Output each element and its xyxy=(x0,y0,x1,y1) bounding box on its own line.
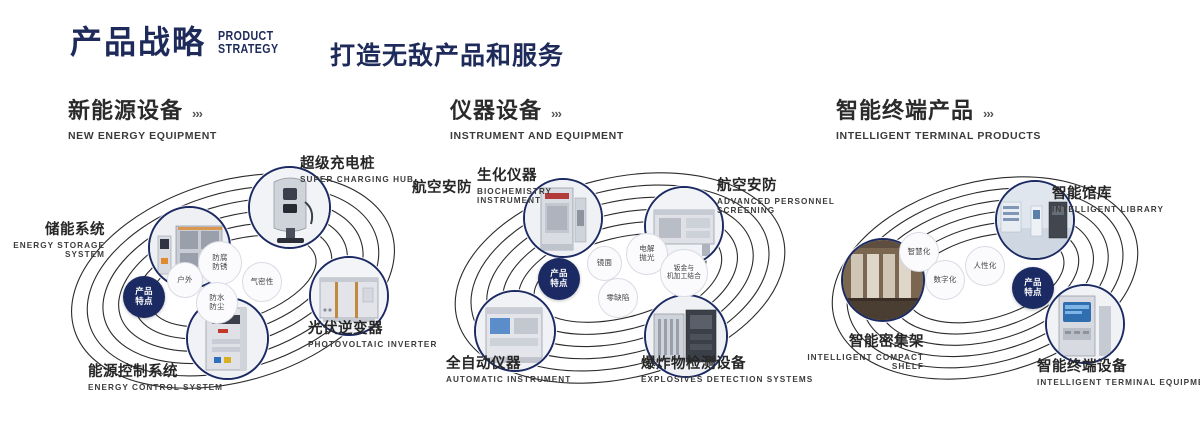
feature-label: 零缺陷 xyxy=(606,294,629,303)
feature-label: 人性化 xyxy=(973,262,996,271)
label-automatic-instrument: 全自动仪器 AUTOMATIC INSTRUMENT xyxy=(446,352,571,384)
label-en: ENERGY CONTROL SYSTEM xyxy=(88,383,223,392)
page-title-en-line2: STRATEGY xyxy=(218,42,279,55)
label-cn: 超级充电桩 xyxy=(300,152,414,173)
section-title-en: INTELLIGENT TERMINAL PRODUCTS xyxy=(836,130,1041,142)
label-intelligent-compact-shelf: 智能密集架 INTELLIGENT COMPACT SHELF xyxy=(806,330,924,371)
label-en: SUPER CHARGING HUB xyxy=(300,175,414,184)
label-energy-control-system: 能源控制系统 ENERGY CONTROL SYSTEM xyxy=(88,360,223,392)
label-en: ENERGY STORAGE SYSTEM xyxy=(0,241,105,259)
feature-bubble-anticorrosion: 防腐防锈 xyxy=(198,241,242,285)
product-circle-intelligent-terminal-equipment[interactable] xyxy=(1045,284,1125,364)
label-biochemistry-instrument: 生化仪器 BIOCHEMISTRY INSTRUMENT xyxy=(477,164,552,205)
label-cn: 航空安防 xyxy=(412,176,472,197)
section-title-en: INSTRUMENT AND EQUIPMENT xyxy=(450,130,624,142)
feature-bubble-sheetmetal-machining: 钣金与机加工结合 xyxy=(660,249,708,297)
feature-bubble-digitalization: 数字化 xyxy=(925,260,965,300)
feature-bubble-core-product-features: 产品特点 xyxy=(123,276,165,318)
feature-label: 防水防尘 xyxy=(209,294,224,312)
page-title: 产品战略 PRODUCT STRATEGY xyxy=(70,26,292,58)
feature-label: 智慧化 xyxy=(907,248,930,257)
section-title-instrument: 仪器设备 ››› INSTRUMENT AND EQUIPMENT xyxy=(450,93,624,142)
product-strategy-infographic: 产品战略 PRODUCT STRATEGY 打造无敌产品和服务 新能源设备 ››… xyxy=(0,0,1200,422)
feature-bubble-core-product-features: 产品特点 xyxy=(538,258,580,300)
label-en: EXPLOSIVES DETECTION SYSTEMS xyxy=(641,375,813,384)
label-cn: 爆炸物检测设备 xyxy=(641,352,813,373)
label-en: PHOTOVOLTAIC INVERTER xyxy=(308,340,437,349)
feature-label: 数字化 xyxy=(933,276,956,285)
label-cn: 智能馆库 xyxy=(1052,182,1164,203)
page-title-cn: 产品战略 xyxy=(70,26,206,58)
feature-label: 电解抛光 xyxy=(639,245,654,263)
feature-label: 气密性 xyxy=(250,278,273,287)
label-explosives-detection: 爆炸物检测设备 EXPLOSIVES DETECTION SYSTEMS xyxy=(641,352,813,384)
label-energy-storage-system: 储能系统 ENERGY STORAGE SYSTEM xyxy=(0,218,105,259)
chevron-right-icon: ››› xyxy=(192,106,202,121)
label-aviation-security-left: 航空安防 xyxy=(412,176,472,197)
section-title-intelligent-terminal: 智能终端产品 ››› INTELLIGENT TERMINAL PRODUCTS xyxy=(836,93,1041,142)
feature-label: 钣金与机加工结合 xyxy=(667,265,701,281)
feature-label: 镜面 xyxy=(597,259,612,268)
label-cn: 能源控制系统 xyxy=(88,360,223,381)
feature-bubble-mirror-finish: 镜面 xyxy=(587,246,622,281)
label-cn: 储能系统 xyxy=(0,218,105,239)
label-intelligent-library: 智能馆库 INTELLIGENT LIBRARY xyxy=(1052,182,1164,214)
label-cn: 生化仪器 xyxy=(477,164,552,185)
feature-label: 户外 xyxy=(177,276,192,285)
kiosk-terminal-photo xyxy=(1047,286,1123,362)
chevron-right-icon: ››› xyxy=(551,106,561,121)
section-title-cn: 智能终端产品 xyxy=(836,93,974,125)
chevron-right-icon: ››› xyxy=(983,106,993,121)
feature-label: 产品特点 xyxy=(1024,278,1041,298)
label-cn: 全自动仪器 xyxy=(446,352,571,373)
feature-bubble-core-product-features: 产品特点 xyxy=(1012,267,1054,309)
feature-label: 防腐防锈 xyxy=(212,254,227,272)
label-intelligent-terminal-equipment: 智能终端设备 INTELLIGENT TERMINAL EQUIPMENT xyxy=(1037,355,1200,387)
feature-bubble-waterproof: 防水防尘 xyxy=(196,282,238,324)
section-title-cn: 仪器设备 xyxy=(450,93,542,125)
page-subtitle: 打造无敌产品和服务 xyxy=(330,36,564,72)
section-title-en: NEW ENERGY EQUIPMENT xyxy=(68,130,217,142)
page-title-en: PRODUCT STRATEGY xyxy=(218,29,279,55)
label-cn: 光伏逆变器 xyxy=(308,317,437,338)
label-en: INTELLIGENT LIBRARY xyxy=(1052,205,1164,214)
section-title-new-energy: 新能源设备 ››› NEW ENERGY EQUIPMENT xyxy=(68,93,217,142)
label-en: INTELLIGENT TERMINAL EQUIPMENT xyxy=(1037,378,1200,387)
label-en: INTELLIGENT COMPACT SHELF xyxy=(806,353,924,371)
label-photovoltaic-inverter: 光伏逆变器 PHOTOVOLTAIC INVERTER xyxy=(308,317,437,349)
feature-bubble-humanization: 人性化 xyxy=(965,246,1005,286)
section-title-cn: 新能源设备 xyxy=(68,93,183,125)
label-en: AUTOMATIC INSTRUMENT xyxy=(446,375,571,384)
label-en: BIOCHEMISTRY INSTRUMENT xyxy=(477,187,552,205)
feature-label: 产品特点 xyxy=(135,287,152,307)
label-super-charging-hub: 超级充电桩 SUPER CHARGING HUB xyxy=(300,152,414,184)
label-cn: 智能终端设备 xyxy=(1037,355,1200,376)
feature-bubble-airtight: 气密性 xyxy=(242,262,282,302)
label-cn: 智能密集架 xyxy=(806,330,924,351)
feature-label: 产品特点 xyxy=(550,269,567,289)
feature-bubble-zero-defect: 零缺陷 xyxy=(598,278,638,318)
